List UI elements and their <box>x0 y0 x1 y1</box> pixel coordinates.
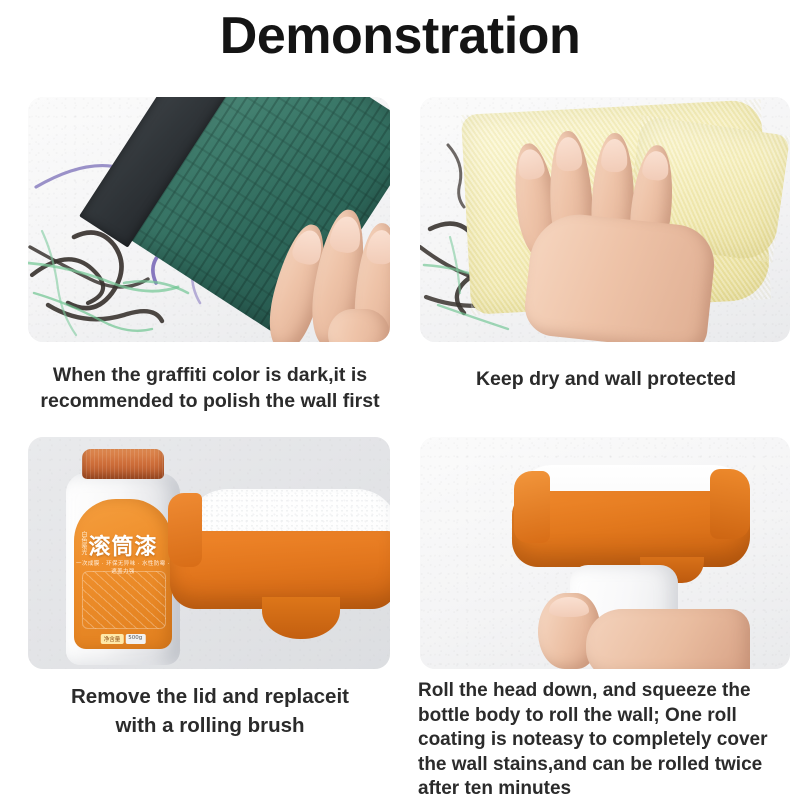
palm <box>522 210 718 342</box>
roller-head <box>170 489 390 649</box>
weight-value: 500g <box>125 634 145 644</box>
caption-step-1: When the graffiti color is dark,it is re… <box>24 362 396 414</box>
fingernail <box>366 229 390 265</box>
roller-stem <box>262 597 340 639</box>
finger <box>328 309 390 342</box>
roller-side-ear <box>168 493 202 567</box>
panel-wiping <box>420 97 790 342</box>
bottle-cap <box>82 449 164 479</box>
caption-step-4: Roll the head down, and squeeze the bott… <box>418 679 796 802</box>
panel-sanding <box>28 97 390 342</box>
bottle-label-title: 滚筒漆 <box>74 529 172 561</box>
roller-side-ear-left <box>514 471 550 543</box>
caption-step-3: Remove the lid and replaceit with a roll… <box>22 682 398 740</box>
fingernail <box>329 214 364 254</box>
bottle-label: 白色哑光 滚筒漆 一次成膜 · 环保无异味 · 水性防霉 · 遮盖力强 净含量 … <box>74 499 172 649</box>
fingernail <box>600 139 628 173</box>
bottle-weight-badge: 净含量 500g <box>101 634 146 644</box>
caption-step-2: Keep dry and wall protected <box>420 366 792 392</box>
fingernail <box>555 137 584 172</box>
paint-bottle: 白色哑光 滚筒漆 一次成膜 · 环保无异味 · 水性防霉 · 遮盖力强 净含量 … <box>60 447 186 665</box>
panel-rolling <box>420 437 790 669</box>
panel-bottle-roller: 白色哑光 滚筒漆 一次成膜 · 环保无异味 · 水性防霉 · 遮盖力强 净含量 … <box>28 437 390 669</box>
fingernail <box>642 150 671 182</box>
bottle-label-illustration <box>82 571 166 629</box>
roller-side-ear-right <box>710 469 750 539</box>
hand-panel-4 <box>538 587 748 669</box>
page-title: Demonstration <box>0 6 800 66</box>
weight-label: 净含量 <box>101 634 124 644</box>
palm <box>586 609 750 669</box>
thumbnail <box>549 597 589 617</box>
